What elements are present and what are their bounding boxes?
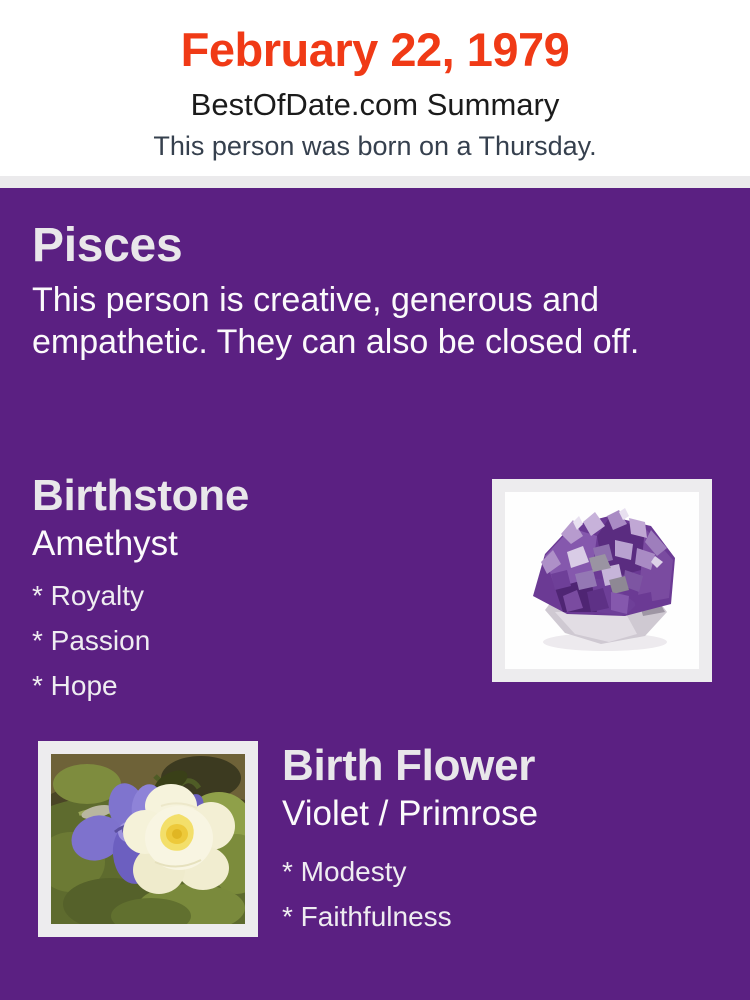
birthstone-image (505, 492, 699, 669)
zodiac-sign-name: Pisces (32, 218, 718, 274)
birthstone-heading: Birthstone (32, 470, 472, 522)
birthstone-name: Amethyst (32, 522, 472, 565)
birth-flower-name: Violet / Primrose (282, 792, 722, 835)
page-title-date: February 22, 1979 (0, 22, 750, 78)
list-item: * Royalty (32, 573, 472, 618)
site-name-subtitle: BestOfDate.com Summary (0, 86, 750, 124)
page-header: February 22, 1979 BestOfDate.com Summary… (0, 0, 750, 176)
list-item: * Hope (32, 663, 472, 708)
zodiac-section: Pisces This person is creative, generous… (32, 218, 718, 363)
list-item: * Modesty (282, 849, 722, 894)
birth-flower-heading: Birth Flower (282, 740, 722, 792)
violet-primrose-flower-icon (51, 754, 245, 924)
zodiac-description: This person is creative, generous and em… (32, 279, 702, 363)
birthstone-trait-list: * Royalty * Passion * Hope (32, 573, 472, 708)
birth-flower-section: Birth Flower Violet / Primrose * Modesty… (282, 740, 722, 939)
weekday-statement: This person was born on a Thursday. (0, 129, 750, 163)
list-item: * Passion (32, 618, 472, 663)
birth-flower-trait-list: * Modesty * Faithfulness (282, 849, 722, 939)
birthstone-image-frame (492, 479, 712, 682)
summary-page: February 22, 1979 BestOfDate.com Summary… (0, 0, 750, 1000)
amethyst-crystal-icon (505, 492, 699, 669)
list-item: * Faithfulness (282, 894, 722, 939)
header-divider (0, 176, 750, 188)
birth-flower-image (51, 754, 245, 924)
birthstone-section: Birthstone Amethyst * Royalty * Passion … (32, 470, 472, 708)
birth-flower-image-frame (38, 741, 258, 937)
content-panel: Pisces This person is creative, generous… (0, 188, 750, 1000)
